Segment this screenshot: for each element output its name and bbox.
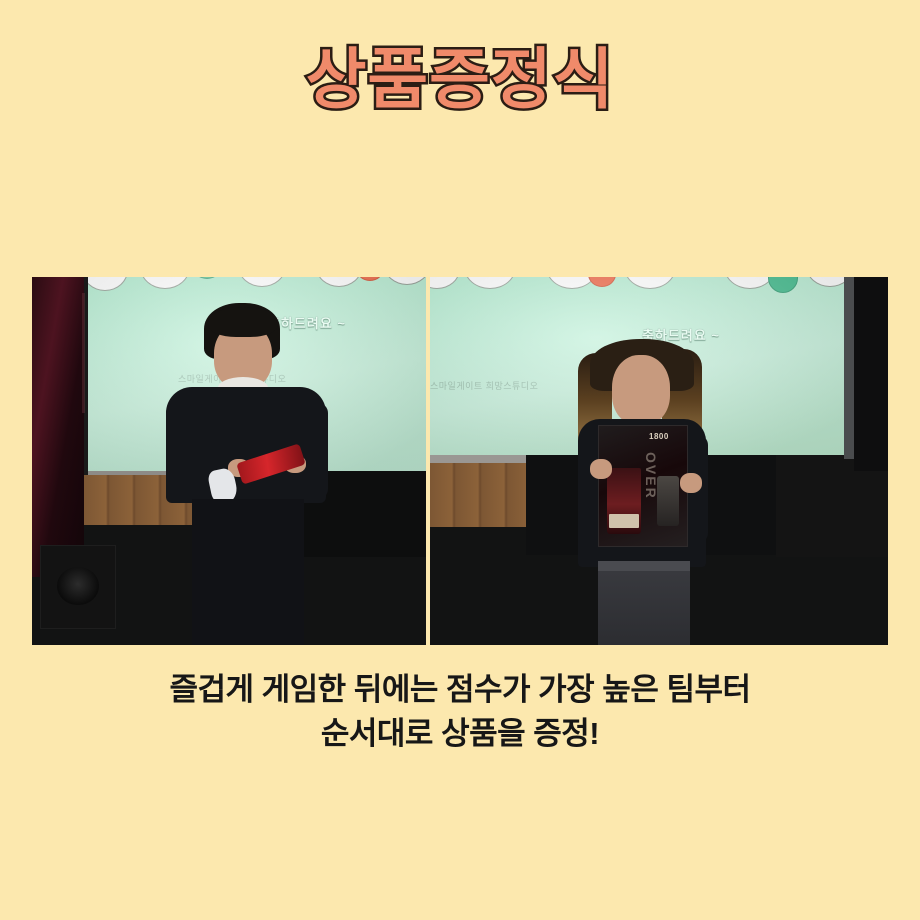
hand-right [680,473,702,493]
slide-subtext: 스마일게이트 희망스튜디오 [430,379,538,392]
caption-line-2: 순서대로 상품을 증정! [0,712,920,756]
bubble-decoration [546,277,598,289]
screen-frame-edge [844,277,854,459]
bubble-decoration [316,277,362,287]
floor-speaker [40,545,116,629]
promo-card: 상품증정식 스마일게이트 희망스튜디오 [0,0,920,920]
caption-line-1: 즐겁게 게임한 뒤에는 점수가 가장 높은 팀부터 [0,668,920,712]
award-photo-left: 스마일게이트 희망스튜디오 축하드려요 ~ [32,277,426,645]
screen-frame-shadow [854,277,888,471]
jeans [598,561,690,645]
gift-box: 1800 OVER [598,425,688,547]
photo-strip: 스마일게이트 희망스튜디오 축하드려요 ~ [32,277,888,645]
bubble-decoration [724,277,776,289]
hand-left [590,459,612,479]
bubble-decoration [588,277,616,287]
bubble-decoration [384,277,426,285]
bubble-decoration [624,277,676,289]
award-photo-right: 스마일게이트 희망스튜디오 축하드려요 ~ 1800 OVER [430,277,888,645]
bubble-decoration [140,277,190,289]
bubble-decoration [768,277,798,293]
title-area: 상품증정식 [0,46,920,112]
gift-accessory [657,476,679,526]
bubble-decoration [356,277,384,281]
bubble-decoration [430,277,460,289]
jeans-waistband [598,561,690,571]
bubble-decoration [806,277,848,287]
bubble-decoration [192,277,222,279]
curtain-highlight [82,293,85,413]
bubble-decoration [464,277,516,289]
slide-bubble-decorations [430,277,848,315]
gift-bottle-label [609,514,639,528]
hair-fringe [208,307,278,337]
bubble-decoration [238,277,286,287]
bubble-decoration [88,277,128,291]
stage-curtain [32,277,84,577]
legs [192,499,304,645]
gift-box-brand-label: 1800 [649,432,669,441]
head [612,355,670,425]
caption: 즐겁게 게임한 뒤에는 점수가 가장 높은 팀부터 순서대로 상품을 증정! [0,668,920,756]
arm-left [166,403,206,499]
page-title: 상품증정식 [306,46,615,112]
